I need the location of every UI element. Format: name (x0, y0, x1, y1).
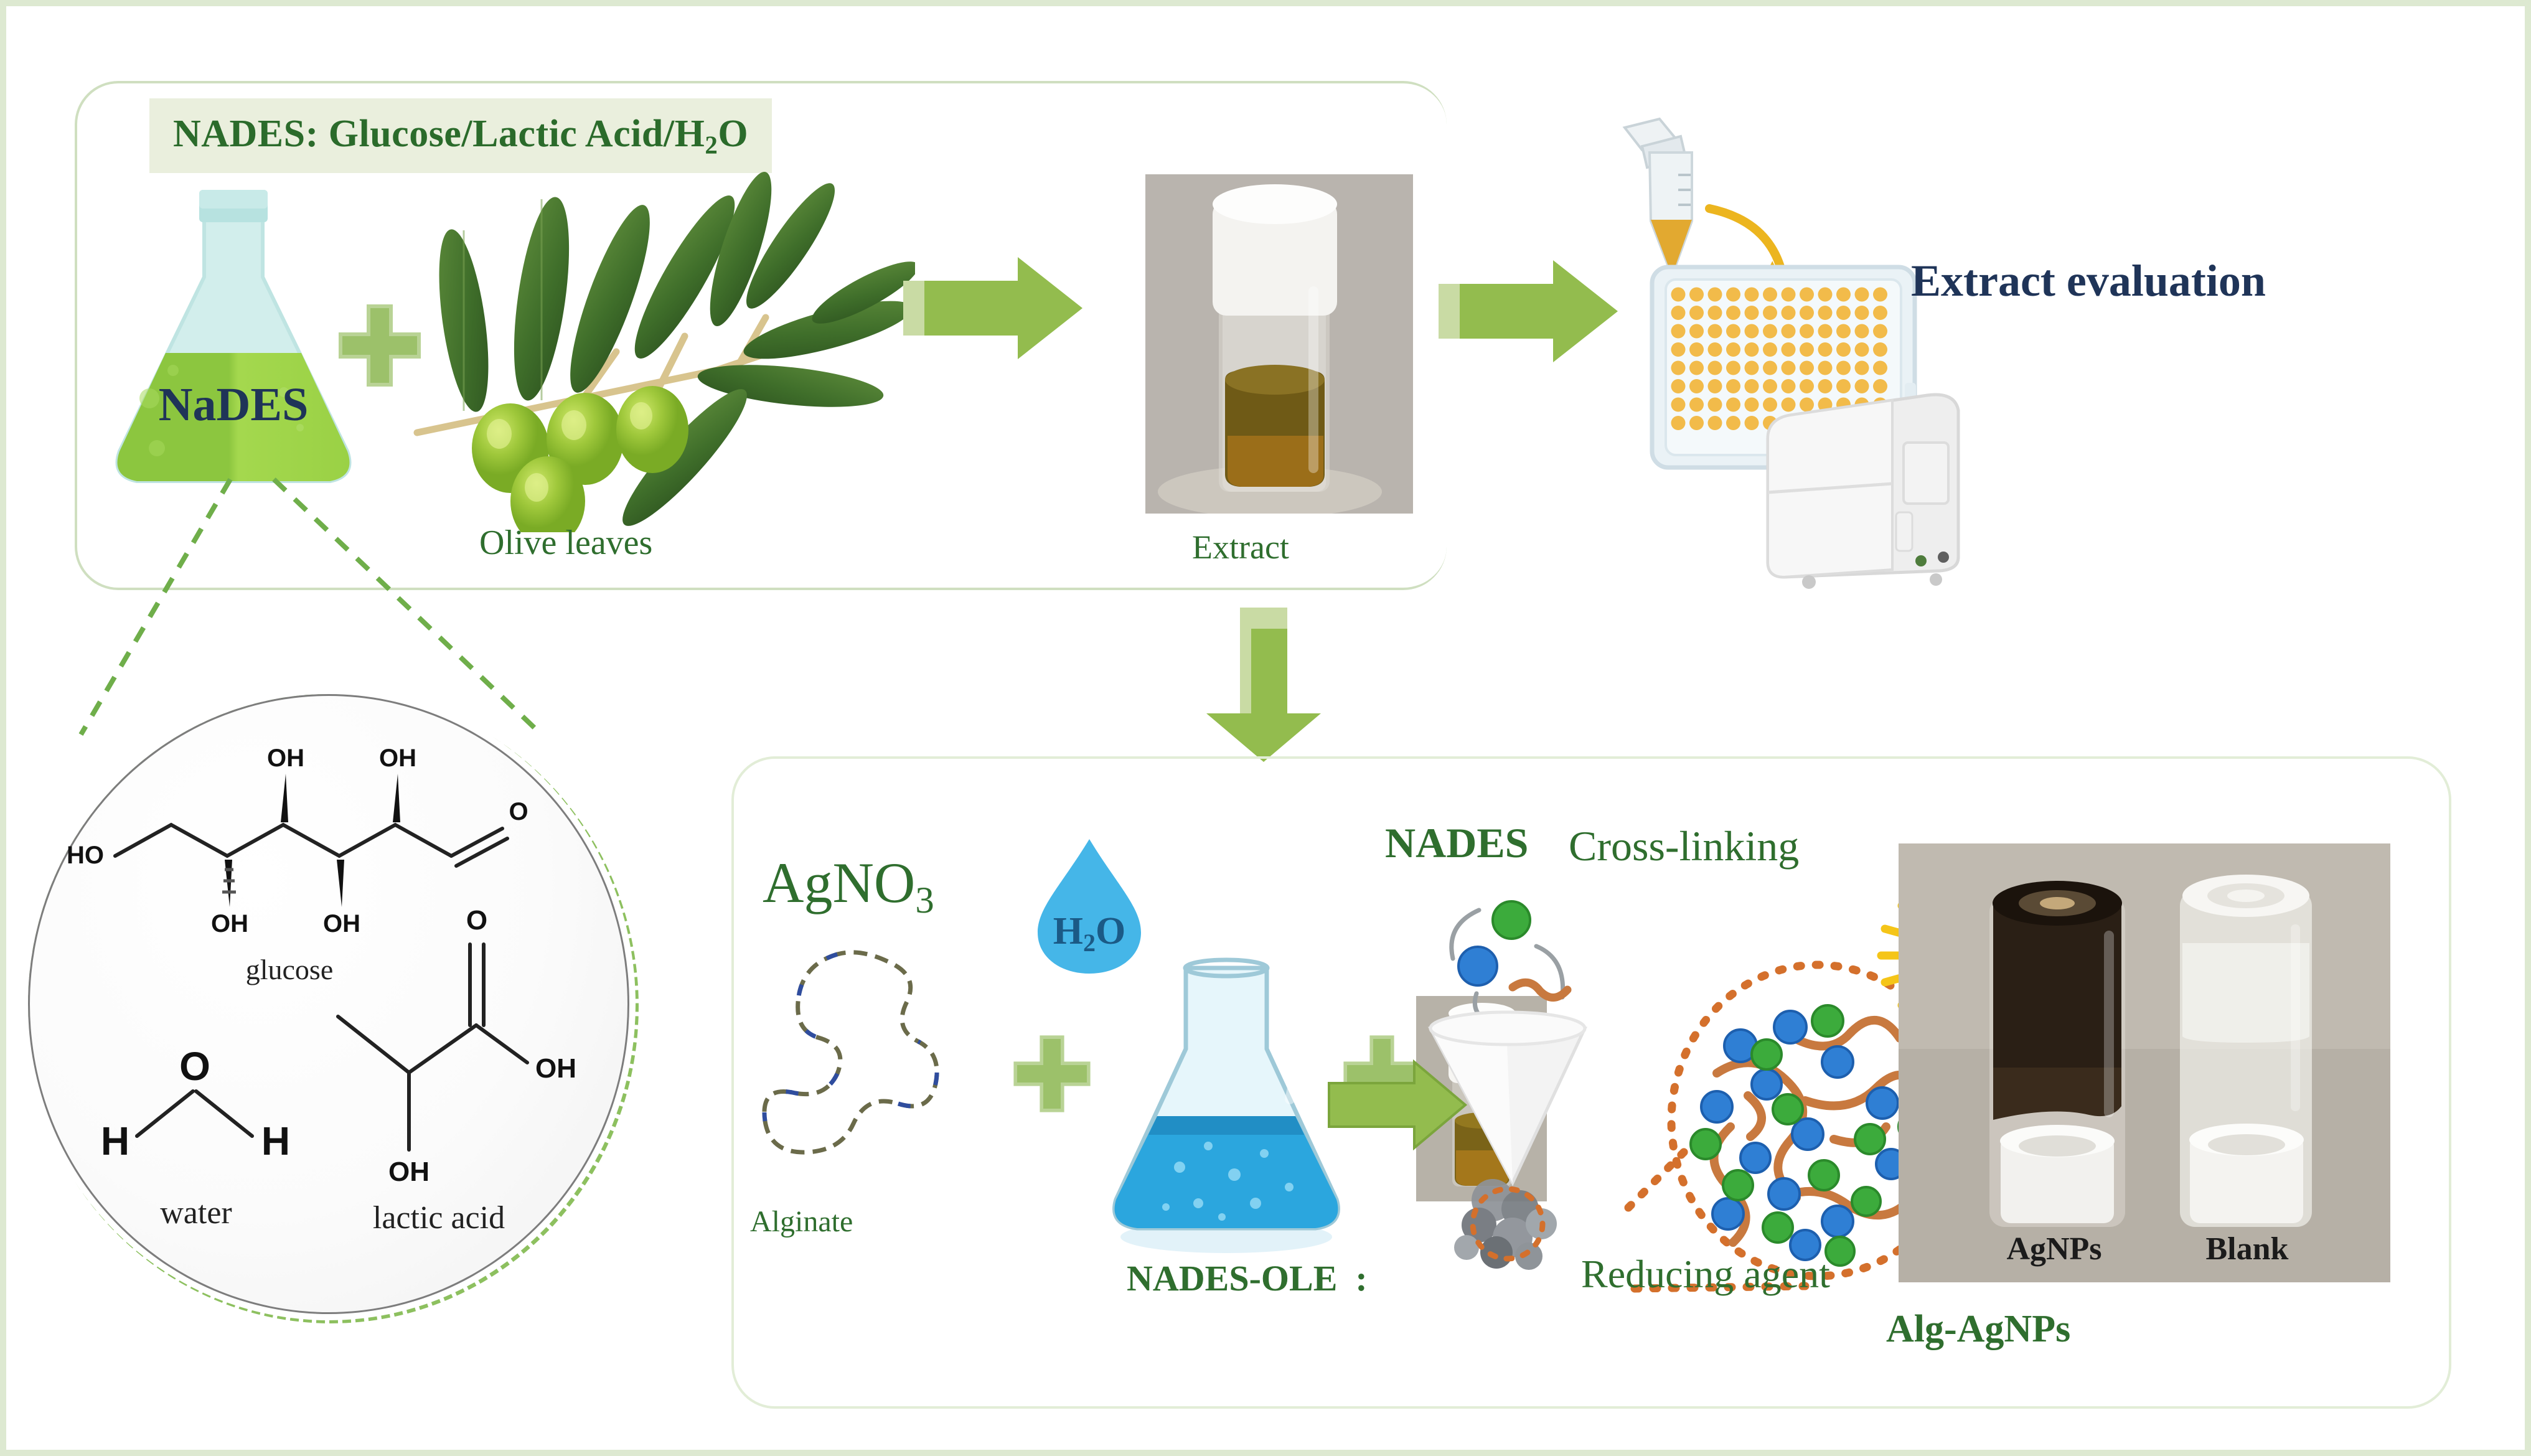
reducing-agent-label: Reducing agent (1581, 1251, 1830, 1297)
process-arrow-down (1201, 604, 1326, 766)
nades-flask-label: NaDES (159, 378, 309, 431)
agno3-label: AgNO3 (763, 850, 934, 923)
alginate-label: Alginate (750, 1205, 853, 1239)
erlenmeyer-flask-blue-icon (1092, 956, 1360, 1254)
plate-reader-instrument-icon (1749, 370, 2017, 594)
nades-ole-label: NADES-OLE : (1127, 1257, 1368, 1299)
alginate-polymer-icon (744, 937, 1012, 1205)
glucose-oh-2: OH (379, 744, 416, 772)
plus-icon-bottom-1 (1008, 1030, 1096, 1117)
lactic-carbonyl-o: O (466, 905, 487, 936)
nades-components-structures: HO OH OH OH OH O glucose O H H water (40, 707, 613, 1298)
glucose-oh-1: OH (267, 744, 304, 772)
crosslinking-label: Cross-linking (1569, 822, 1799, 871)
glucose-oh-3: OH (211, 910, 248, 937)
lactic-cooh-oh: OH (535, 1053, 576, 1084)
extract-vial-photo (1145, 174, 1413, 514)
process-arrow-2 (1435, 255, 1622, 367)
lactic-hydroxyl-oh: OH (388, 1157, 430, 1187)
extract-evaluation-label: Extract evaluation (1911, 255, 2266, 307)
nades-composition-text: NADES: Glucose/Lactic Acid/H2O (173, 112, 748, 159)
water-label: water (160, 1195, 232, 1231)
glucose-carbonyl-o: O (509, 798, 528, 825)
graphical-abstract-figure: NADES: Glucose/Lactic Acid/H2O NaDES (0, 0, 2531, 1456)
nades-composition-band: NADES: Glucose/Lactic Acid/H2O (149, 98, 772, 173)
water-o-label: O (179, 1044, 210, 1089)
glucose-label: glucose (246, 954, 334, 985)
nades-label-bottom: NADES (1385, 819, 1529, 868)
alg-agnps-label: Alg-AgNPs (1886, 1307, 2070, 1351)
water-h-label-1: H (101, 1119, 129, 1163)
agnps-blank-vials-photo: AgNPs Blank (1899, 843, 2390, 1282)
blank-photo-label: Blank (2206, 1231, 2289, 1267)
extract-label: Extract (1192, 528, 1289, 566)
lactic-acid-label: lactic acid (373, 1200, 505, 1236)
glucose-ho-label: HO (67, 842, 104, 869)
agnps-photo-label: AgNPs (2006, 1231, 2101, 1267)
process-arrow-1 (899, 252, 1086, 364)
glucose-oh-4: OH (323, 910, 360, 937)
water-h-label-2: H (261, 1119, 290, 1163)
